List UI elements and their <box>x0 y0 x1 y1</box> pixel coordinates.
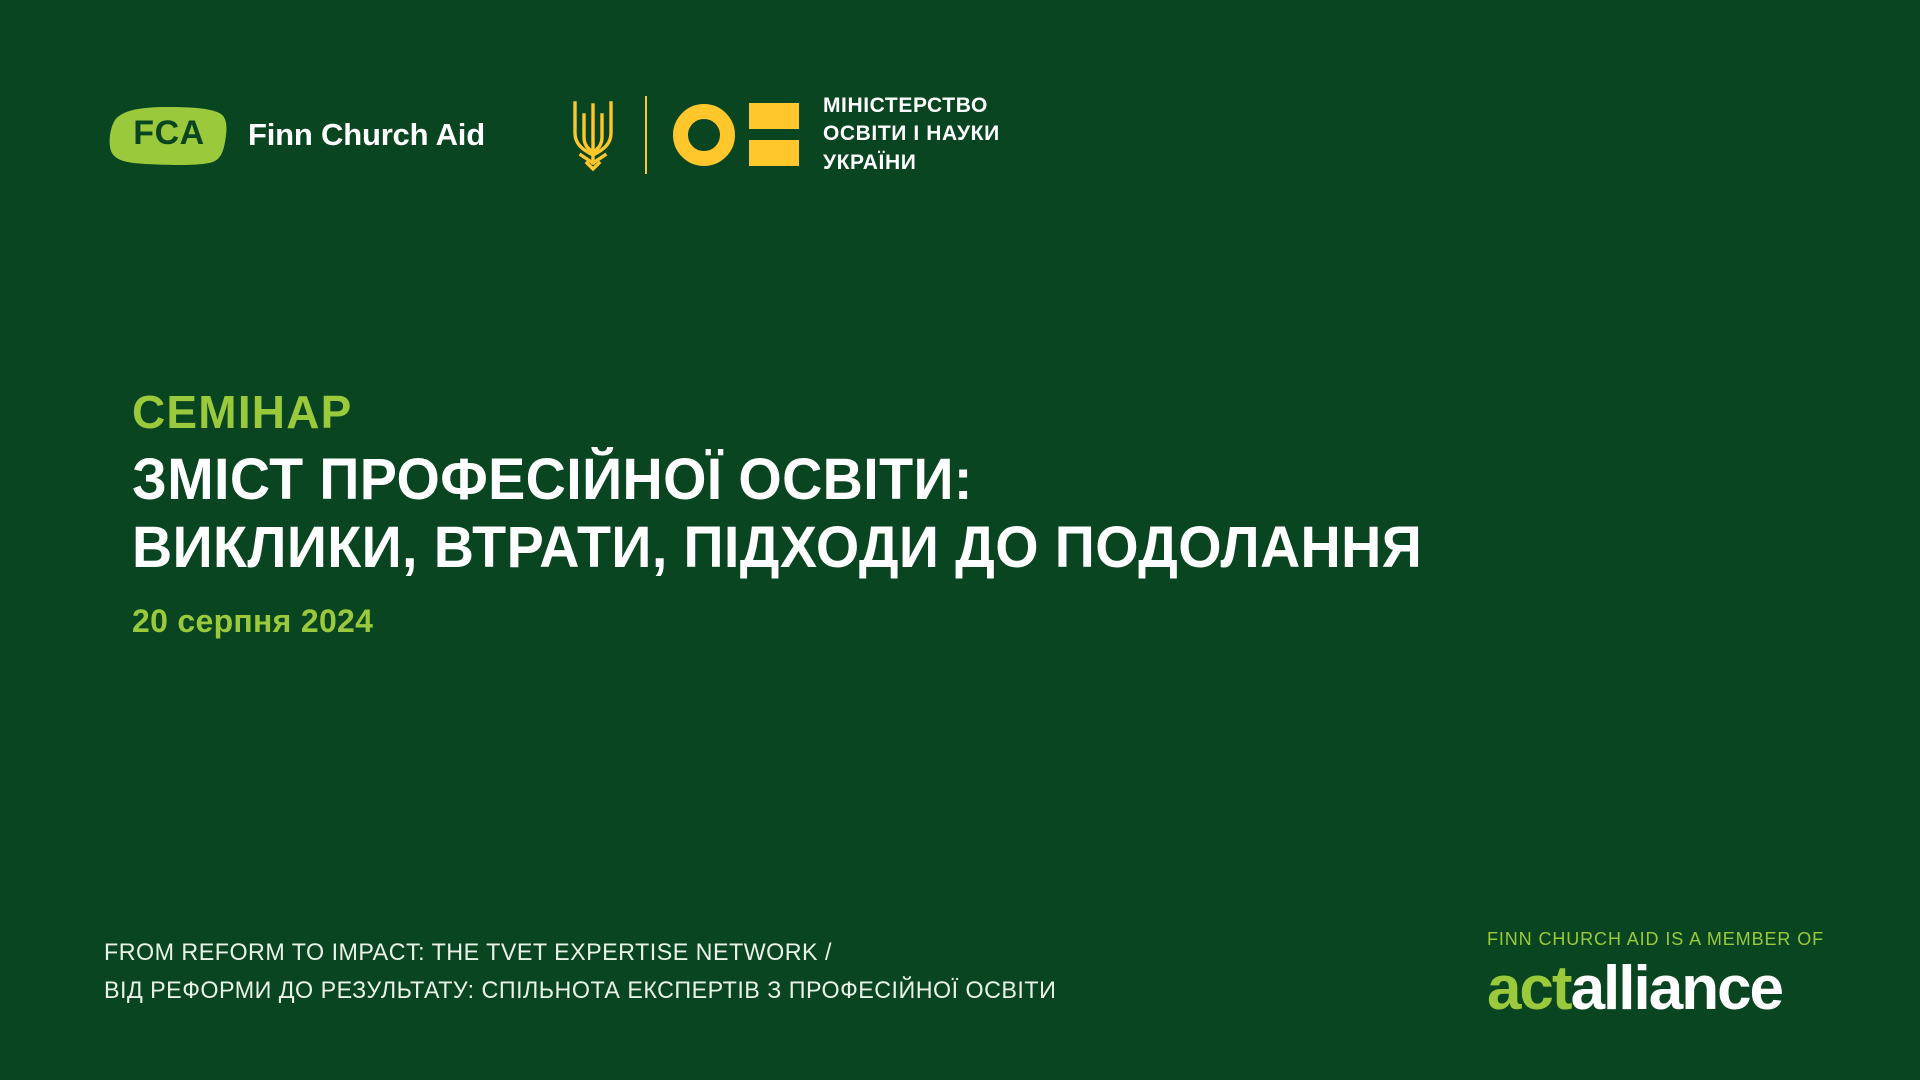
page-title-line-2: ВИКЛИКИ, ВТРАТИ, ПІДХОДИ ДО ПОДОЛАННЯ <box>132 514 1422 581</box>
page-title-line-1: ЗМІСТ ПРОФЕСІЙНОЇ ОСВІТИ: <box>132 446 1422 513</box>
event-date: 20 серпня 2024 <box>132 603 1476 640</box>
act-logo-part-act: act <box>1487 954 1571 1023</box>
logo-divider <box>645 96 647 174</box>
ministry-name: МІНІСТЕРСТВО ОСВІТИ І НАУКИ УКРАЇНИ <box>823 92 1000 177</box>
fca-mark-label: FCA <box>133 114 204 153</box>
mon-bars-shape <box>749 103 799 166</box>
mon-emblem-icon <box>673 103 799 166</box>
program-title-en: FROM REFORM TO IMPACT: THE TVET EXPERTIS… <box>104 934 1056 972</box>
program-footer: FROM REFORM TO IMPACT: THE TVET EXPERTIS… <box>104 934 1056 1010</box>
act-alliance-logo: actalliance <box>1487 958 1824 1020</box>
presentation-slide: FCA Finn Church Aid <box>0 0 1920 1080</box>
fca-brush-mark-icon: FCA <box>108 104 230 166</box>
ministry-line-3: УКРАЇНИ <box>823 149 1000 177</box>
fca-name-label: Finn Church Aid <box>248 117 485 153</box>
mon-ring-shape <box>673 104 735 166</box>
event-kicker: СЕМІНАР <box>132 388 1476 436</box>
title-block: СЕМІНАР ЗМІСТ ПРОФЕСІЙНОЇ ОСВІТИ: ВИКЛИК… <box>132 388 1476 640</box>
logo-bar: FCA Finn Church Aid <box>108 92 1000 177</box>
ukraine-tryzub-icon <box>567 93 619 177</box>
act-logo-part-alliance: alliance <box>1571 954 1782 1023</box>
ministry-logo-lockup: МІНІСТЕРСТВО ОСВІТИ І НАУКИ УКРАЇНИ <box>567 92 1000 177</box>
member-of-label: FINN CHURCH AID IS A MEMBER OF <box>1487 929 1824 950</box>
act-alliance-footer: FINN CHURCH AID IS A MEMBER OF actallian… <box>1487 929 1824 1020</box>
ministry-line-1: МІНІСТЕРСТВО <box>823 92 1000 120</box>
ministry-line-2: ОСВІТИ І НАУКИ <box>823 120 1000 148</box>
program-title-uk: ВІД РЕФОРМИ ДО РЕЗУЛЬТАТУ: СПІЛЬНОТА ЕКС… <box>104 972 1056 1010</box>
fca-logo-lockup: FCA Finn Church Aid <box>108 104 485 166</box>
